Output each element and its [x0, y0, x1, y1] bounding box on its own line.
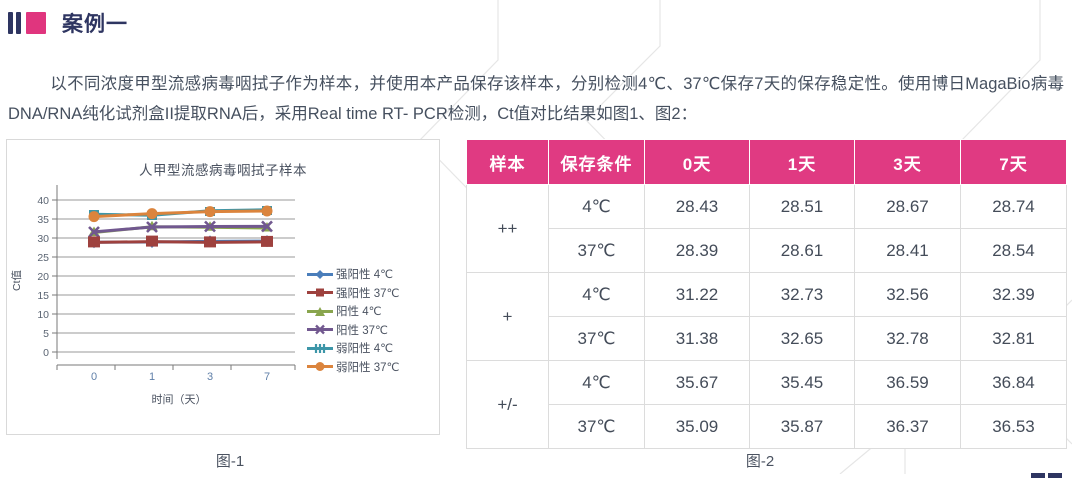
table-row: 37℃ 31.38 32.65 32.78 32.81 — [467, 317, 1067, 361]
heading-square-icon — [26, 12, 46, 34]
chart-card: 人甲型流感病毒咽拭子样本 Ct值 时间（天） 40 35 30 25 20 15… — [6, 139, 440, 435]
column-header-day3: 3天 — [855, 140, 961, 185]
value-cell: 28.67 — [855, 185, 961, 229]
condition-cell: 37℃ — [549, 317, 645, 361]
legend-marker-strong-positive-4c — [307, 269, 333, 280]
value-cell: 28.39 — [645, 229, 750, 273]
results-table: 样本 保存条件 0天 1天 3天 7天 ++ 4℃ 28.43 28.51 28… — [466, 139, 1067, 449]
results-table-wrapper: 样本 保存条件 0天 1天 3天 7天 ++ 4℃ 28.43 28.51 28… — [466, 139, 1066, 449]
value-cell: 28.74 — [961, 185, 1067, 229]
condition-cell: 4℃ — [549, 273, 645, 317]
legend-item: 弱阳性 4℃ — [307, 339, 399, 358]
value-cell: 35.09 — [645, 405, 750, 449]
value-cell: 36.84 — [961, 361, 1067, 405]
legend-label: 弱阳性 4℃ — [336, 340, 393, 356]
column-header-day1: 1天 — [750, 140, 855, 185]
table-row: ++ 4℃ 28.43 28.51 28.67 28.74 — [467, 185, 1067, 229]
legend-label: 强阳性 37℃ — [336, 285, 399, 301]
value-cell: 32.78 — [855, 317, 961, 361]
table-header-row: 样本 保存条件 0天 1天 3天 7天 — [467, 140, 1067, 185]
column-header-day0: 0天 — [645, 140, 750, 185]
legend-marker-positive-4c — [307, 306, 333, 317]
value-cell: 32.73 — [750, 273, 855, 317]
intro-paragraph: 以不同浓度甲型流感病毒咽拭子作为样本，并使用本产品保存该样本，分别检测4℃、37… — [8, 69, 1064, 129]
table-row: 37℃ 28.39 28.61 28.41 28.54 — [467, 229, 1067, 273]
legend-item: 强阳性 37℃ — [307, 284, 399, 303]
legend-item: 弱阳性 37℃ — [307, 358, 399, 377]
table-row: 37℃ 35.09 35.87 36.37 36.53 — [467, 405, 1067, 449]
column-header-day7: 7天 — [961, 140, 1067, 185]
legend-label: 阳性 37℃ — [336, 322, 388, 338]
condition-cell: 37℃ — [549, 229, 645, 273]
value-cell: 31.22 — [645, 273, 750, 317]
value-cell: 36.59 — [855, 361, 961, 405]
value-cell: 28.61 — [750, 229, 855, 273]
legend-label: 弱阳性 37℃ — [336, 359, 399, 375]
sample-cell: +/- — [467, 361, 549, 449]
legend-marker-strong-positive-37c — [307, 287, 333, 298]
value-cell: 32.39 — [961, 273, 1067, 317]
chart-title: 人甲型流感病毒咽拭子样本 — [7, 159, 439, 179]
legend-marker-weak-positive-4c — [307, 343, 333, 354]
value-cell: 32.65 — [750, 317, 855, 361]
condition-cell: 37℃ — [549, 405, 645, 449]
heading-bar-1 — [8, 12, 13, 34]
chart-legend: 强阳性 4℃ 强阳性 37℃ 阳性 4℃ 阳性 37℃ 弱阳性 4℃ 弱阳性 3… — [307, 265, 399, 376]
table-row: + 4℃ 31.22 32.73 32.56 32.39 — [467, 273, 1067, 317]
heading-title: 案例一 — [62, 8, 128, 38]
value-cell: 28.43 — [645, 185, 750, 229]
column-header-sample: 样本 — [467, 140, 549, 185]
section-heading: 案例一 — [8, 8, 128, 38]
figure-1-caption: 图-1 — [150, 450, 310, 471]
table-row: +/- 4℃ 35.67 35.45 36.59 36.84 — [467, 361, 1067, 405]
value-cell: 28.51 — [750, 185, 855, 229]
series-weak-positive-37c — [94, 211, 267, 217]
sample-cell: ++ — [467, 185, 549, 273]
figure-2-caption: 图-2 — [680, 450, 840, 471]
sample-cell: + — [467, 273, 549, 361]
intro-text: 以不同浓度甲型流感病毒咽拭子作为样本，并使用本产品保存该样本，分别检测4℃、37… — [8, 75, 1064, 123]
heading-bar-2 — [16, 12, 21, 34]
value-cell: 32.56 — [855, 273, 961, 317]
value-cell: 28.41 — [855, 229, 961, 273]
value-cell: 32.81 — [961, 317, 1067, 361]
series-strong-positive-37c — [94, 242, 267, 243]
legend-label: 阳性 4℃ — [336, 303, 382, 319]
value-cell: 35.67 — [645, 361, 750, 405]
condition-cell: 4℃ — [549, 361, 645, 405]
legend-label: 强阳性 4℃ — [336, 266, 393, 282]
value-cell: 31.38 — [645, 317, 750, 361]
value-cell: 35.45 — [750, 361, 855, 405]
legend-item: 强阳性 4℃ — [307, 265, 399, 284]
value-cell: 35.87 — [750, 405, 855, 449]
legend-marker-weak-positive-37c — [307, 361, 333, 372]
legend-marker-positive-37c — [307, 324, 333, 335]
value-cell: 36.37 — [855, 405, 961, 449]
value-cell: 28.54 — [961, 229, 1067, 273]
legend-item: 阳性 4℃ — [307, 302, 399, 321]
legend-item: 阳性 37℃ — [307, 321, 399, 340]
value-cell: 36.53 — [961, 405, 1067, 449]
column-header-condition: 保存条件 — [549, 140, 645, 185]
chart-plot-area: Ct值 时间（天） 40 35 30 25 20 15 10 5 0 0 1 3… — [7, 179, 441, 429]
condition-cell: 4℃ — [549, 185, 645, 229]
